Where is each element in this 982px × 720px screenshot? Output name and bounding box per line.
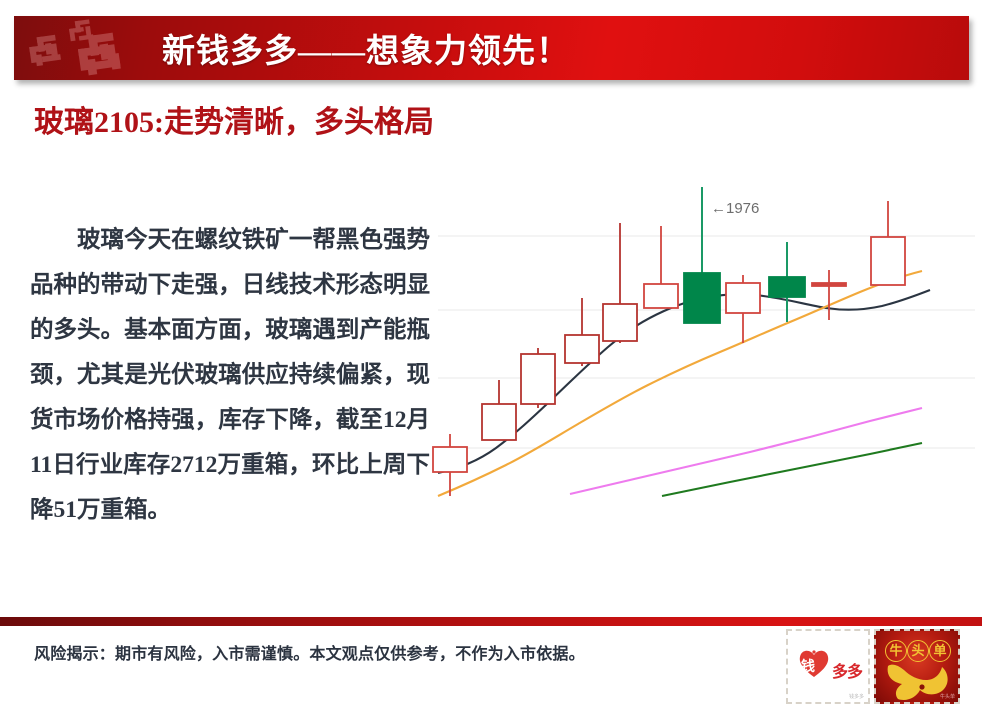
candle-5 (644, 226, 678, 308)
logo-qianduoduo: 钱 多多 钱多多 (786, 629, 870, 704)
header-banner: 新钱多多——想象力领先！ (14, 16, 969, 80)
candle-series (433, 187, 905, 496)
chart-svg: ←1976 (430, 180, 975, 525)
logo-niutoudan-watermark: 牛头单 (940, 693, 955, 700)
candle-7 (726, 275, 760, 343)
candle-1 (482, 380, 516, 440)
logo-qianduoduo-heart-text: 钱 (801, 656, 815, 676)
ma-line-long (570, 408, 922, 494)
logo-niutoudan: 牛 头 单 牛头单 (874, 629, 960, 704)
candle-2 (521, 348, 555, 408)
chinese-knot-pattern-icon (26, 18, 148, 80)
price-annotation-1976: ←1976 (711, 200, 759, 217)
logo-qianduoduo-watermark: 钱多多 (849, 693, 864, 700)
footer-divider (0, 617, 982, 626)
logo-qianduoduo-name: 多多 (832, 658, 862, 682)
candle-9 (812, 270, 846, 320)
candle-3 (565, 298, 599, 366)
footer-disclaimer: 风险揭示：期市有风险，入市需谨慎。本文观点仅供参考，不作为入市依据。 (34, 640, 585, 664)
candlestick-chart: ←1976 (430, 180, 975, 525)
candle-10 (871, 201, 905, 285)
body-paragraph: 玻璃今天在螺纹铁矿一帮黑色强势品种的带动下走强，日线技术形态明显的多头。基本面方… (30, 218, 430, 533)
logo-niutoudan-char-1: 头 (907, 640, 929, 662)
logo-niutoudan-char-0: 牛 (885, 640, 907, 662)
header-title: 新钱多多——想象力领先！ (162, 24, 570, 72)
ma-line-xlong (662, 443, 922, 496)
candle-4 (603, 223, 637, 343)
footer-logos: 钱 多多 钱多多 牛 头 单 牛头单 (786, 629, 964, 704)
page-title: 玻璃2105:走势清晰，多头格局 (34, 100, 434, 146)
logo-niutoudan-char-2: 单 (929, 640, 951, 662)
